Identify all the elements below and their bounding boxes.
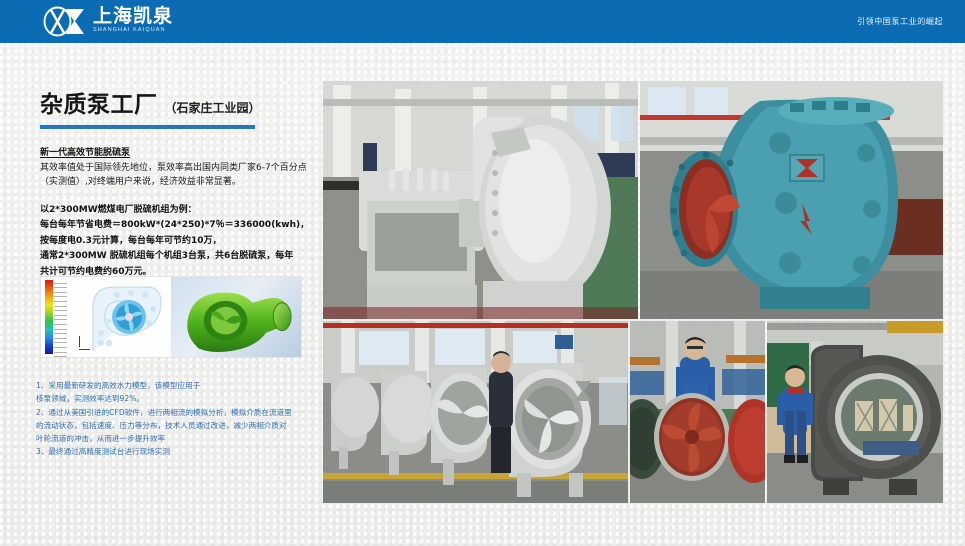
velocity-scale-ticks — [54, 279, 76, 355]
brand-logo[interactable]: 上海凯泉 SHANGHAI KAIQUAN — [42, 6, 173, 37]
photo-raw-casting-casing-worker — [767, 321, 943, 503]
section-heading: 新一代高效节能脱硫泵 — [40, 145, 312, 158]
page-title: 杂质泵工厂 （石家庄工业园） — [40, 85, 312, 119]
page-title-main: 杂质泵工厂 — [40, 85, 158, 119]
photo-pump-casing-row — [323, 321, 628, 503]
note-line: 3、最终通过高精度测试台进行现场实测 — [36, 446, 316, 458]
page-header: 上海凯泉 SHANGHAI KAIQUAN 引领中国泵工业的崛起 — [0, 0, 965, 43]
velocity-color-scale-icon — [45, 280, 53, 354]
header-slogan: 引领中国泵工业的崛起 — [857, 16, 943, 27]
page-title-sub: （石家庄工业园） — [165, 99, 261, 116]
note-line: 的流动状态，包括速度、压力等分布，技术人员通过改进，减少两相介质对 — [36, 420, 316, 432]
photo-grid — [323, 81, 943, 503]
photo-desulfurization-pump-assembly — [323, 81, 638, 319]
technical-notes-list: 1、采用最新研发的高效水力模型，该模型应用于 核泵领域，实测效率达到92%。 2… — [36, 380, 316, 460]
kaiquan-kq-monogram-icon — [42, 6, 86, 37]
example-block: 以2*300MW燃煤电厂脱硫机组为例： 每台每年节省电费＝800kW*(24*2… — [40, 203, 312, 280]
cfd-image-row — [40, 276, 302, 358]
cfd-velocity-contour-image — [41, 277, 171, 357]
volute-mesh-plot — [87, 281, 165, 355]
example-line: 按每度电0.3元计算，每台每年可节约10万， — [40, 234, 312, 249]
note-line: 叶轮流道的冲击，从而进一步提升效率 — [36, 433, 316, 445]
note-line: 核泵领域，实测效率达到92%。 — [36, 393, 316, 405]
slide-root: 上海凯泉 SHANGHAI KAIQUAN 引领中国泵工业的崛起 杂质泵工厂 （… — [0, 0, 965, 546]
note-line: 2、通过从美国引进的CFD软件，进行两相流的模拟分析，模拟介质在流道里 — [36, 407, 316, 419]
example-line: 每台每年节省电费＝800kW*(24*250)*7％＝336000(kwh)， — [40, 218, 312, 233]
logo-text-en: SHANGHAI KAIQUAN — [93, 28, 173, 34]
photo-red-impellers-worker — [630, 321, 765, 503]
volute-3d-model-image — [171, 277, 301, 357]
example-line: 以2*300MW燃煤电厂脱硫机组为例： — [40, 203, 312, 218]
section-paragraph: 其效率值处于国际领先地位，泵效率高出国内同类厂家6-7个百分点（实测值）,对终端… — [40, 162, 312, 190]
note-line: 1、采用最新研发的高效水力模型，该模型应用于 — [36, 380, 316, 392]
left-content-column: 杂质泵工厂 （石家庄工业园） 新一代高效节能脱硫泵 其效率值处于国际领先地位，泵… — [40, 85, 312, 280]
logo-text-cn: 上海凯泉 — [93, 7, 173, 26]
example-line: 通常2*300MW 脱硫机组每个机组3台泵，共6台脱硫泵，每年 — [40, 249, 312, 264]
title-underline-rule — [40, 125, 255, 129]
photo-blue-slurry-pump-casing — [640, 81, 943, 319]
